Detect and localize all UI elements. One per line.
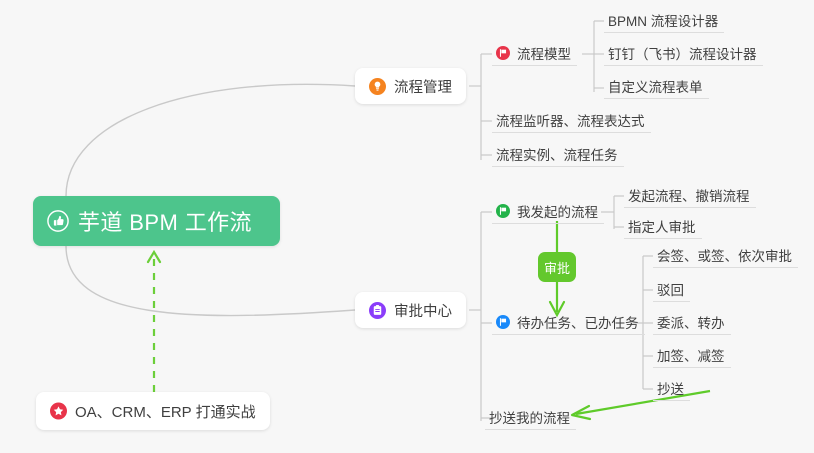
root-label: 芋道 BPM 工作流 — [78, 205, 252, 237]
node-label: 会签、或签、依次审批 — [657, 245, 792, 265]
bottom-node-label: OA、CRM、ERP 打通实战 — [75, 401, 256, 422]
root-node[interactable]: 芋道 BPM 工作流 — [33, 196, 280, 246]
node-daiban-yiban-renwu[interactable]: 待办任务、已办任务 — [492, 312, 645, 335]
node-instance-task[interactable]: 流程实例、流程任务 — [492, 144, 624, 167]
lightbulb-icon — [369, 78, 386, 95]
clipboard-icon — [369, 302, 386, 319]
node-label: 加签、减签 — [657, 345, 725, 365]
node-label: 发起流程、撤销流程 — [628, 185, 750, 205]
wire-root-to-liucheng-guanli — [66, 84, 355, 196]
node-label: 流程监听器、流程表达式 — [496, 110, 645, 130]
node-bpmn-designer[interactable]: BPMN 流程设计器 — [604, 10, 724, 33]
node-label: BPMN 流程设计器 — [608, 10, 718, 30]
node-custom-process-form[interactable]: 自定义流程表单 — [604, 76, 709, 99]
node-wo-faqi-de-liucheng[interactable]: 我发起的流程 — [492, 201, 604, 224]
node-label: 我发起的流程 — [517, 201, 598, 221]
node-reject[interactable]: 驳回 — [653, 279, 690, 302]
node-label: 钉钉（飞书）流程设计器 — [608, 43, 757, 63]
node-start-cancel-process[interactable]: 发起流程、撤销流程 — [624, 185, 756, 208]
node-countersign[interactable]: 会签、或签、依次审批 — [653, 245, 798, 268]
green-flag-icon — [496, 204, 510, 218]
bottom-node-oa-crm-erp[interactable]: OA、CRM、ERP 打通实战 — [36, 392, 270, 430]
red-star-icon — [50, 403, 67, 420]
node-label: 指定人审批 — [628, 216, 696, 236]
approval-chip: 审批 — [538, 252, 576, 282]
thumbs-up-icon — [47, 210, 69, 232]
node-dingtalk-feishu-designer[interactable]: 钉钉（飞书）流程设计器 — [604, 43, 763, 66]
approval-chip-label: 审批 — [544, 258, 570, 277]
node-label: 驳回 — [657, 279, 684, 299]
node-delegate-transfer[interactable]: 委派、转办 — [653, 312, 731, 335]
node-label: 待办任务、已办任务 — [517, 312, 639, 332]
branch-label: 流程管理 — [394, 76, 452, 97]
red-flag-icon — [496, 46, 510, 60]
node-label: 流程实例、流程任务 — [496, 144, 618, 164]
branch-node-liucheng-guanli[interactable]: 流程管理 — [355, 68, 466, 104]
node-assignee-approval[interactable]: 指定人审批 — [624, 216, 702, 239]
node-label: 抄送 — [657, 378, 684, 398]
node-listener-expression[interactable]: 流程监听器、流程表达式 — [492, 110, 651, 133]
node-liucheng-moxing[interactable]: 流程模型 — [492, 43, 577, 66]
node-carbon-copy[interactable]: 抄送 — [653, 378, 690, 401]
node-chaosong-wode-liucheng[interactable]: 抄送我的流程 — [485, 407, 576, 430]
node-label: 委派、转办 — [657, 312, 725, 332]
node-label: 流程模型 — [517, 43, 571, 63]
branch-node-shenpi-zhongxin[interactable]: 审批中心 — [355, 292, 466, 328]
branch-label: 审批中心 — [394, 300, 452, 321]
node-add-remove-sign[interactable]: 加签、减签 — [653, 345, 731, 368]
dashed-arrow-head — [148, 252, 160, 262]
mindmap-canvas: 芋道 BPM 工作流 流程管理 流程模型 BPMN 流程设计器 钉钉（飞书）流程… — [0, 0, 814, 453]
blue-flag-icon — [496, 315, 510, 329]
wire-root-to-shenpi-zhongxin — [66, 246, 355, 316]
node-label: 抄送我的流程 — [489, 407, 570, 427]
node-label: 自定义流程表单 — [608, 76, 703, 96]
